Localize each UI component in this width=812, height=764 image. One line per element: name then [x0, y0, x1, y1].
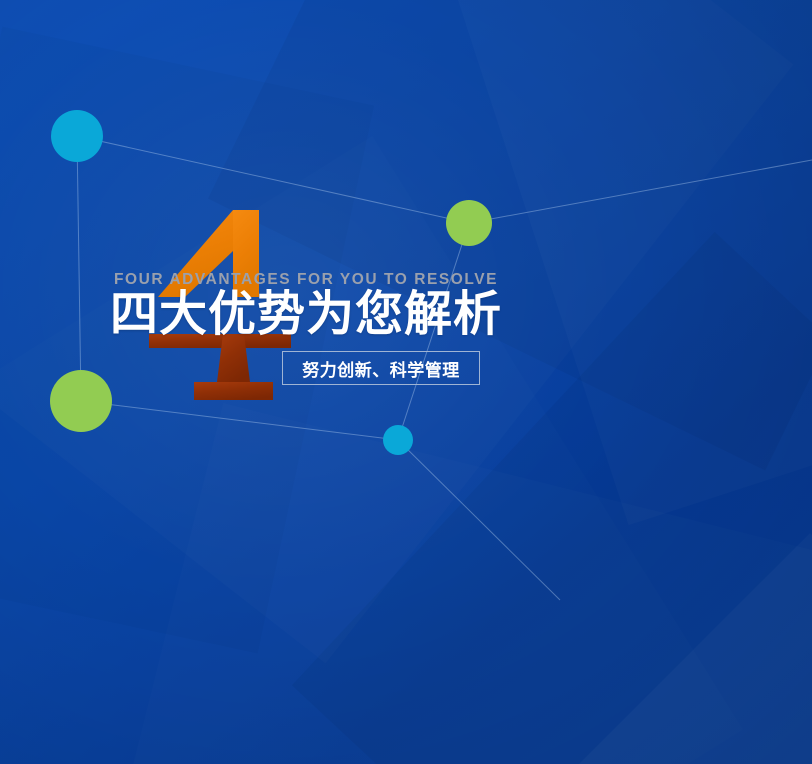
link-cyan-top-left-to-green-bottom-left	[77, 136, 81, 401]
banner-tagline-box: 努力创新、科学管理	[282, 351, 480, 385]
link-green-bottom-left-to-cyan-bottom	[81, 401, 398, 440]
link-cyan-bottom-to-edge	[398, 440, 560, 600]
node-green-right	[446, 200, 492, 246]
banner-eyebrow: FOUR ADVANTAGES FOR YOU TO RESOLVE	[114, 272, 498, 288]
node-cyan-bottom	[383, 425, 413, 455]
link-green-right-to-edge	[469, 160, 812, 223]
node-cyan-top-left	[51, 110, 103, 162]
promo-banner: FOUR ADVANTAGES FOR YOU TO RESOLVE 四大优势为…	[0, 0, 812, 764]
banner-headline: 四大优势为您解析	[110, 289, 502, 341]
node-green-bottom-left	[50, 370, 112, 432]
banner-tagline: 努力创新、科学管理	[302, 356, 460, 381]
